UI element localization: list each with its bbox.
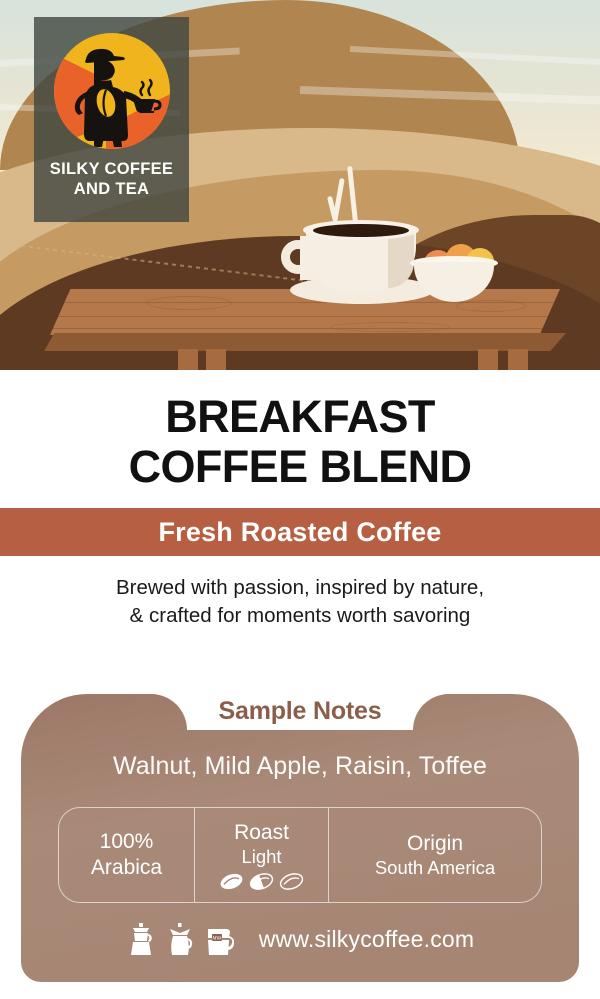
- milk-jug-icon: Milk: [204, 922, 234, 956]
- logo-brand-name: SILKY COFFEE AND TEA: [34, 159, 189, 199]
- spec-origin-detail: South America: [375, 856, 495, 879]
- spec-roast-detail: Light: [241, 845, 281, 868]
- tagline-line-1: Brewed with passion, inspired by nature,: [32, 574, 568, 602]
- card-footer: Milk www.silkycoffee.com: [21, 922, 579, 956]
- coffee-bean-filled-icon: [219, 873, 244, 890]
- teapot-icon: [165, 922, 195, 956]
- hero-illustration: SILKY COFFEE AND TEA: [0, 0, 600, 370]
- spec-roast: Roast Light: [194, 808, 329, 902]
- roast-level-beans: [219, 873, 304, 890]
- spec-arabica-value: 100%: [100, 829, 154, 855]
- spec-origin: Origin South America: [329, 808, 541, 902]
- spec-roast-label: Roast: [234, 820, 289, 846]
- wood-grain-icon: [330, 322, 450, 332]
- spec-origin-label: Origin: [407, 831, 463, 857]
- banner-text: Fresh Roasted Coffee: [158, 517, 441, 548]
- logo-circle: [54, 33, 170, 149]
- table-leg-icon: [508, 349, 528, 370]
- tasting-notes: Walnut, Mild Apple, Raisin, Toffee: [21, 752, 579, 781]
- coffee-bean-empty-icon: [279, 873, 304, 890]
- logo-name-line2: AND TEA: [34, 179, 189, 199]
- table-leg-icon: [206, 349, 226, 370]
- svg-text:Milk: Milk: [211, 937, 222, 942]
- wood-grain-icon: [456, 300, 526, 312]
- title-line-1: BREAKFAST: [0, 392, 600, 442]
- spec-arabica: 100% Arabica: [59, 808, 194, 902]
- wood-grain-icon: [146, 296, 232, 310]
- moka-pot-icon: [126, 922, 156, 956]
- table-leg-icon: [178, 349, 198, 370]
- tagline-line-2: & crafted for moments worth savoring: [32, 602, 568, 630]
- tagline: Brewed with passion, inspired by nature,…: [0, 574, 600, 629]
- spec-box: 100% Arabica Roast Light: [58, 807, 542, 903]
- coffee-liquid-icon: [313, 224, 409, 237]
- coffee-bean-half-icon: [249, 873, 274, 890]
- logo-badge: SILKY COFFEE AND TEA: [34, 17, 189, 222]
- spec-arabica-detail: Arabica: [91, 855, 162, 881]
- sample-notes-card: Sample Notes Walnut, Mild Apple, Raisin,…: [21, 694, 579, 982]
- subtitle-banner: Fresh Roasted Coffee: [0, 508, 600, 556]
- title-line-2: COFFEE BLEND: [0, 442, 600, 492]
- website-url[interactable]: www.silkycoffee.com: [259, 926, 475, 953]
- sample-notes-heading: Sample Notes: [21, 694, 579, 728]
- logo-name-line1: SILKY COFFEE: [34, 159, 189, 179]
- table-leg-icon: [478, 349, 498, 370]
- man-with-coffee-cup-icon: [54, 33, 170, 149]
- product-title: BREAKFAST COFFEE BLEND: [0, 392, 600, 491]
